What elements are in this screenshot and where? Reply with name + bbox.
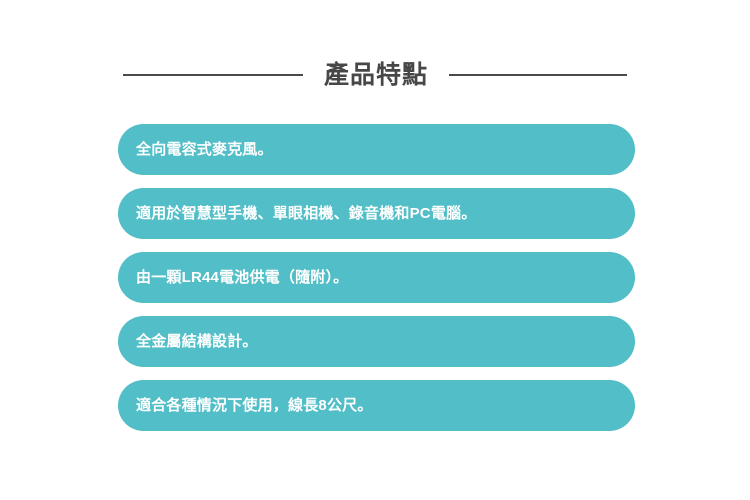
list-item: 由一顆LR44電池供電（隨附）。 [118,252,635,303]
list-item: 適合各種情況下使用，線長8公尺。 [118,380,635,431]
feature-text: 全向電容式麥克風。 [136,141,273,159]
list-item: 全向電容式麥克風。 [118,124,635,175]
list-item: 適用於智慧型手機、單眼相機、錄音機和PC電腦。 [118,188,635,239]
page-title: 產品特點 [324,63,428,88]
heading-rule-right [449,74,627,76]
feature-text: 適合各種情況下使用，線長8公尺。 [136,397,373,415]
product-features-page: 產品特點 全向電容式麥克風。 適用於智慧型手機、單眼相機、錄音機和PC電腦。 由… [0,0,750,500]
feature-text: 全金屬結構設計。 [136,333,258,351]
feature-text: 由一顆LR44電池供電（隨附）。 [136,269,348,287]
list-item: 全金屬結構設計。 [118,316,635,367]
feature-list: 全向電容式麥克風。 適用於智慧型手機、單眼相機、錄音機和PC電腦。 由一顆LR4… [118,124,635,431]
feature-text: 適用於智慧型手機、單眼相機、錄音機和PC電腦。 [136,205,476,223]
section-heading: 產品特點 [0,55,750,95]
heading-rule-left [123,74,303,76]
